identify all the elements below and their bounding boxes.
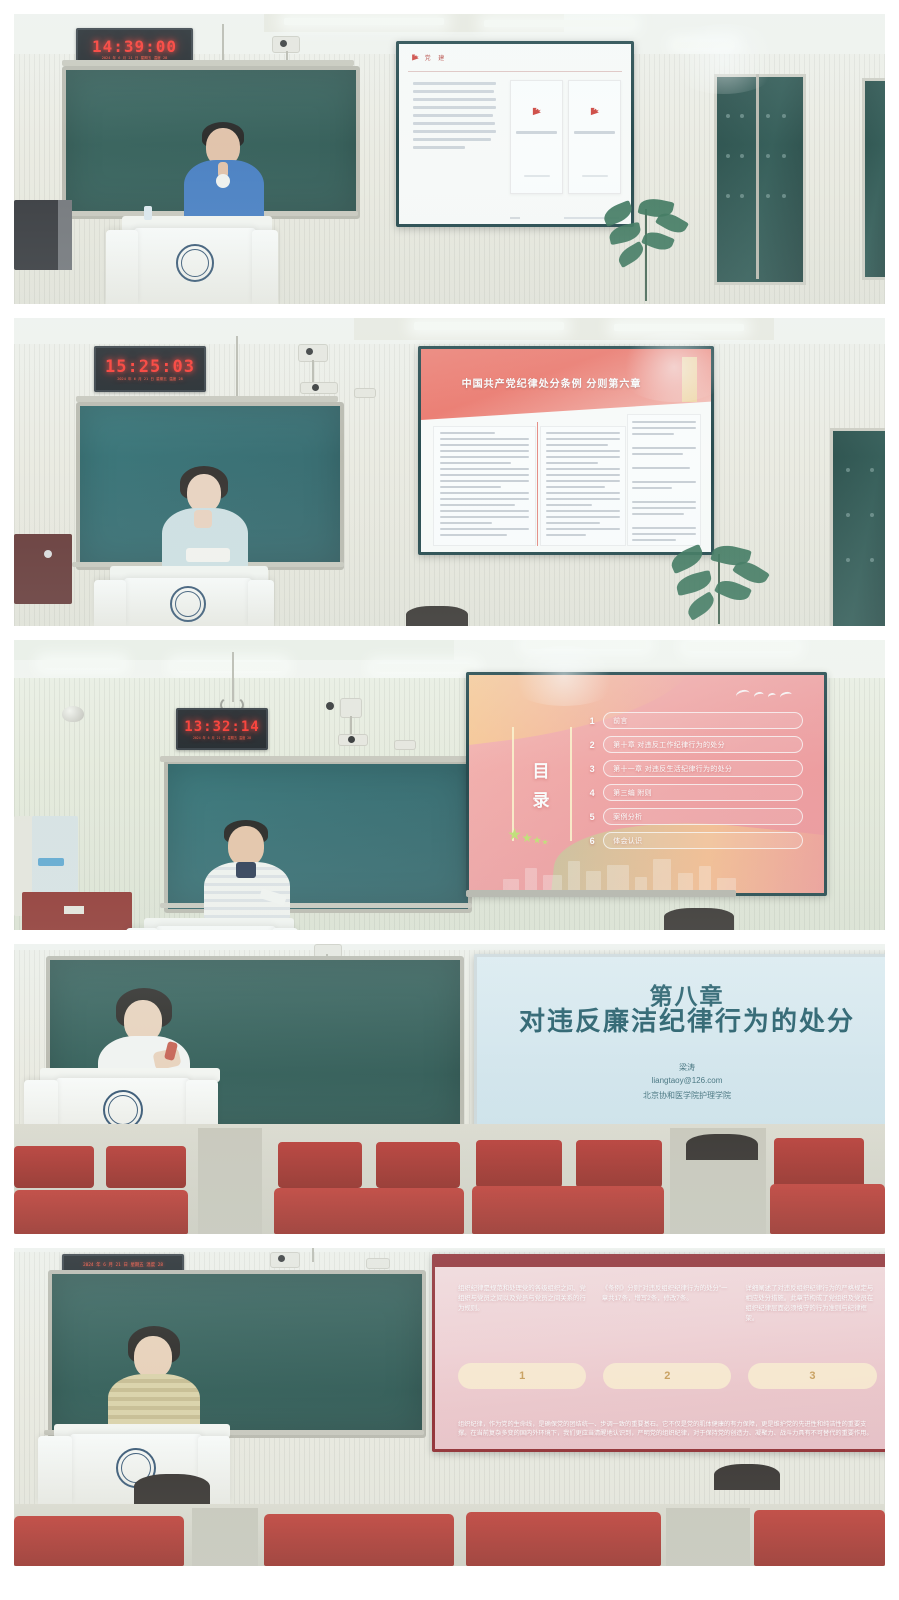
toc-number: 2 — [586, 740, 598, 750]
door-left[interactable] — [714, 74, 806, 285]
seat-row — [472, 1186, 664, 1234]
ceiling-camera-housing — [340, 698, 362, 718]
ceiling-camera-housing — [270, 1252, 300, 1268]
slide-4: 第八章 对违反廉洁纪律行为的处分 梁涛 liangtaoy@126.com 北京… — [477, 957, 885, 1127]
side-cabinet — [14, 534, 72, 604]
clock-date: 2024 年 6 月 21 日 星期五 温度 28 — [83, 1262, 163, 1268]
stars-decoration — [508, 828, 548, 845]
seat-row — [754, 1510, 885, 1566]
speaker-person — [106, 1326, 202, 1434]
seat-row — [264, 1514, 454, 1566]
slide-3: 目 录 1 前言 2 — [469, 675, 824, 893]
podium-side-left — [126, 928, 158, 930]
number-pill-2: 2 — [603, 1363, 731, 1390]
toc-label: 第十一章 对违反生活纪律行为的处分 — [613, 764, 732, 774]
aisle — [192, 1508, 258, 1566]
door-right[interactable] — [862, 78, 885, 280]
clock-time: 13:32:14 — [184, 719, 259, 735]
toc-heading-char-1: 目 — [532, 757, 551, 782]
institution-emblem-icon — [176, 244, 214, 282]
classroom-scene-1: 14:39:00 2024 年 6 月 21 日 星期五 温度 28 — [14, 14, 885, 304]
podium-side-right — [252, 230, 278, 304]
seat-row — [770, 1184, 885, 1234]
slide-footer-text: 组织纪律，作为党的生命线，是确保党的团结统一、步调一致的重要基石。它不仅是党的肌… — [458, 1420, 877, 1440]
seat — [14, 1146, 94, 1188]
card-label — [516, 131, 557, 134]
audience-head — [714, 1464, 780, 1490]
seat — [576, 1140, 662, 1188]
slide-card-2 — [568, 80, 621, 194]
speaker-box — [354, 388, 376, 398]
slide-title: 中国共产党纪律处分条例 分则第六章 — [438, 375, 664, 390]
toc-number: 3 — [586, 764, 598, 774]
microphone-boom — [236, 336, 238, 398]
ceiling-light — [674, 42, 734, 48]
door[interactable] — [830, 428, 885, 626]
side-cabinet — [14, 200, 64, 270]
seat — [774, 1138, 864, 1188]
card-caption — [582, 175, 608, 177]
photo-panel-1[interactable]: 14:39:00 2024 年 6 月 21 日 星期五 温度 28 — [14, 14, 885, 304]
city-skyline-decoration — [497, 845, 802, 893]
audience-seating — [14, 1508, 885, 1566]
digital-clock: 13:32:14 2024 年 6 月 21 日 星期五 温度 28 — [176, 708, 268, 750]
audience-head — [686, 1134, 758, 1160]
classroom-scene-3: 13:32:14 2024 年 6 月 21 日 星期五 温度 28 — [14, 640, 885, 930]
screen-bottom-rail — [466, 890, 736, 897]
photo-panel-2[interactable]: 15:25:03 2024 年 6 月 21 日 星期五 温度 28 中国共产党… — [14, 318, 885, 626]
clock-time: 14:39:00 — [92, 37, 177, 56]
speaker-person — [182, 122, 266, 222]
toc-item-1[interactable]: 1 前言 — [586, 712, 803, 729]
podium-side-left — [106, 230, 138, 304]
slide-2: 中国共产党纪律处分条例 分则第六章 — [421, 349, 711, 552]
number-pill-1: 1 — [458, 1363, 586, 1390]
audience-head — [406, 606, 468, 626]
slide-1: 党 建 — [399, 44, 631, 224]
speaker-person — [202, 820, 292, 922]
seat-row — [14, 1516, 184, 1566]
toc-pill[interactable]: 第三编 附则 — [603, 784, 803, 801]
podium-side-left — [94, 580, 126, 626]
party-emblem-icon — [531, 106, 542, 117]
card-caption — [524, 175, 550, 177]
clock-date: 2024 年 6 月 21 日 星期五 温度 28 — [193, 735, 251, 740]
ceiling-light — [284, 18, 444, 25]
classroom-scene-5: 2024 年 6 月 21 日 星期五 温度 28 组织纪律是规范和处理党的各级… — [14, 1248, 885, 1566]
slide-columns: 组织纪律是规范和处理党的各级组织之间、党组织与党员之间以及党员与党员之间关系的行… — [458, 1284, 877, 1349]
blackboard — [48, 1270, 426, 1438]
classroom-scene-4: 第八章 对违反廉洁纪律行为的处分 梁涛 liangtaoy@126.com 北京… — [14, 944, 885, 1234]
slide-body-text — [413, 82, 497, 154]
slide-column-1 — [433, 426, 537, 546]
toc-heading: 目 录 — [512, 727, 573, 840]
toc-number: 1 — [586, 716, 598, 726]
toc-label: 第三编 附则 — [613, 788, 652, 798]
toc-pill[interactable]: 第十章 对违反工作纪律行为的处分 — [603, 736, 803, 753]
camera-mount — [300, 382, 338, 394]
toc-pill[interactable]: 体会认识 — [603, 832, 803, 849]
header-rule — [408, 71, 621, 72]
column-divider — [537, 422, 538, 546]
camera-lens-icon — [326, 702, 334, 710]
dome-camera-icon — [62, 706, 84, 722]
clock-date: 2024 年 6 月 21 日 星期五 温度 28 — [117, 377, 183, 382]
slide-header: 党 建 — [411, 53, 448, 62]
ceiling-light — [484, 20, 634, 27]
slide-column-3 — [627, 414, 702, 546]
cabinet-handle — [64, 906, 84, 914]
digital-clock: 15:25:03 2024 年 6 月 21 日 星期五 温度 28 — [94, 346, 206, 392]
slide-column-2: 《条例》分则“对违反组织纪律行为的处分”一章共17条，增写2条，修改7条。 — [602, 1284, 733, 1349]
camera-lens-icon — [312, 384, 319, 391]
card-label — [574, 131, 615, 134]
board-top-rail — [62, 60, 354, 66]
cabinet-edge — [58, 200, 72, 270]
slide-number-pills: 1 2 3 — [458, 1363, 877, 1390]
podium-side-left — [38, 1436, 72, 1504]
projection-screen[interactable]: 目 录 1 前言 2 — [466, 672, 827, 896]
slide-title-line2: 对违反廉洁纪律行为的处分 — [477, 1001, 885, 1038]
projection-screen[interactable]: 中国共产党纪律处分条例 分则第六章 — [418, 346, 714, 555]
toc-item-4[interactable]: 4 第三编 附则 — [586, 784, 803, 801]
toc-number: 4 — [586, 788, 598, 798]
podium-side-right — [272, 928, 298, 930]
potted-plant — [599, 199, 689, 304]
seat-row — [274, 1188, 464, 1234]
seat-row — [466, 1512, 661, 1566]
aisle — [198, 1128, 262, 1234]
toc-label: 第十章 对违反工作纪律行为的处分 — [613, 740, 725, 750]
photo-collage: 14:39:00 2024 年 6 月 21 日 星期五 温度 28 — [0, 0, 899, 1600]
slide-topbar — [435, 1257, 885, 1267]
podium — [124, 578, 252, 626]
toc-label: 案例分析 — [613, 812, 642, 822]
slide-header-text: 党 建 — [425, 53, 448, 62]
photo-panel-3[interactable]: 13:32:14 2024 年 6 月 21 日 星期五 温度 28 — [14, 640, 885, 930]
cabinet-knob — [44, 550, 52, 558]
party-emblem-icon — [411, 53, 420, 62]
speaker-box — [366, 1258, 390, 1269]
seat — [106, 1146, 186, 1188]
clock-time: 15:25:03 — [105, 357, 195, 377]
toc-heading-char-2: 录 — [532, 786, 551, 811]
photo-panel-5[interactable]: 2024 年 6 月 21 日 星期五 温度 28 组织纪律是规范和处理党的各级… — [14, 1248, 885, 1566]
toc-item-6[interactable]: 6 体会认识 — [586, 832, 803, 849]
toc-item-2[interactable]: 2 第十章 对违反工作纪律行为的处分 — [586, 736, 803, 753]
seat — [278, 1142, 362, 1188]
toc-pill[interactable]: 案例分析 — [603, 808, 803, 825]
seat — [376, 1142, 460, 1188]
slide-column-2 — [540, 426, 626, 546]
slide-column-1: 组织纪律是规范和处理党的各级组织之间、党组织与党员之间以及党员与党员之间关系的行… — [458, 1284, 589, 1349]
toc-pill[interactable]: 前言 — [603, 712, 803, 729]
podium-side-right — [248, 580, 274, 626]
potted-plant — [664, 546, 774, 626]
audience-head — [664, 908, 734, 930]
slide-email: liangtaoy@126.com — [477, 1076, 885, 1085]
toc-label: 体会认识 — [613, 836, 642, 846]
cabinet-label — [38, 858, 64, 866]
toc-number: 6 — [586, 836, 598, 846]
toc-pill[interactable]: 第十一章 对违反生活纪律行为的处分 — [603, 760, 803, 777]
seat-row — [14, 1190, 188, 1234]
projection-screen[interactable]: 第八章 对违反廉洁纪律行为的处分 梁涛 liangtaoy@126.com 北京… — [474, 954, 885, 1130]
classroom-scene-2: 15:25:03 2024 年 6 月 21 日 星期五 温度 28 中国共产党… — [14, 318, 885, 626]
slide-5: 组织纪律是规范和处理党的各级组织之间、党组织与党员之间以及党员与党员之间关系的行… — [435, 1257, 885, 1449]
camera-lens-icon — [278, 1255, 285, 1262]
number-pill-3: 3 — [748, 1363, 876, 1390]
camera-lens-icon — [306, 348, 313, 355]
toc-label: 前言 — [613, 716, 628, 726]
slide-accent-tab — [682, 357, 697, 402]
water-bottle — [144, 206, 152, 220]
speaker-box — [394, 740, 416, 750]
institution-emblem-icon — [170, 586, 206, 622]
camera-lens-icon — [348, 736, 355, 743]
door-divider — [756, 74, 759, 279]
projection-screen[interactable]: 组织纪律是规范和处理党的各级组织之间、党组织与党员之间以及党员与党员之间关系的行… — [432, 1254, 885, 1452]
toc-item-3[interactable]: 3 第十一章 对违反生活纪律行为的处分 — [586, 760, 803, 777]
slide-page-number — [510, 217, 519, 219]
party-emblem-icon — [589, 106, 600, 117]
podium — [134, 228, 256, 304]
slide-card-1 — [510, 80, 563, 194]
toc-list: 1 前言 2 第十章 对违反工作纪律行为的处分 3 第十一章 对违反生活纪律行为… — [586, 712, 803, 849]
slide-column-3: 详细阐述了对违反组织纪律行为的严格规定与相应处分措施。此章节构成了党组织及党员在… — [745, 1284, 876, 1349]
aisle — [666, 1508, 750, 1566]
slide-author: 梁涛 — [477, 1062, 885, 1073]
podium — [156, 926, 276, 930]
camera-lens-icon — [280, 40, 287, 47]
speaker-person — [162, 466, 248, 572]
microphone-boom — [232, 652, 234, 702]
doves-decoration — [736, 690, 792, 700]
photo-panel-4[interactable]: 第八章 对违反廉洁纪律行为的处分 梁涛 liangtaoy@126.com 北京… — [14, 944, 885, 1234]
seat — [476, 1140, 562, 1188]
audience-head — [134, 1474, 210, 1504]
toc-number: 5 — [586, 812, 598, 822]
toc-item-5[interactable]: 5 案例分析 — [586, 808, 803, 825]
slide-organization: 北京协和医学院护理学院 — [477, 1090, 885, 1101]
